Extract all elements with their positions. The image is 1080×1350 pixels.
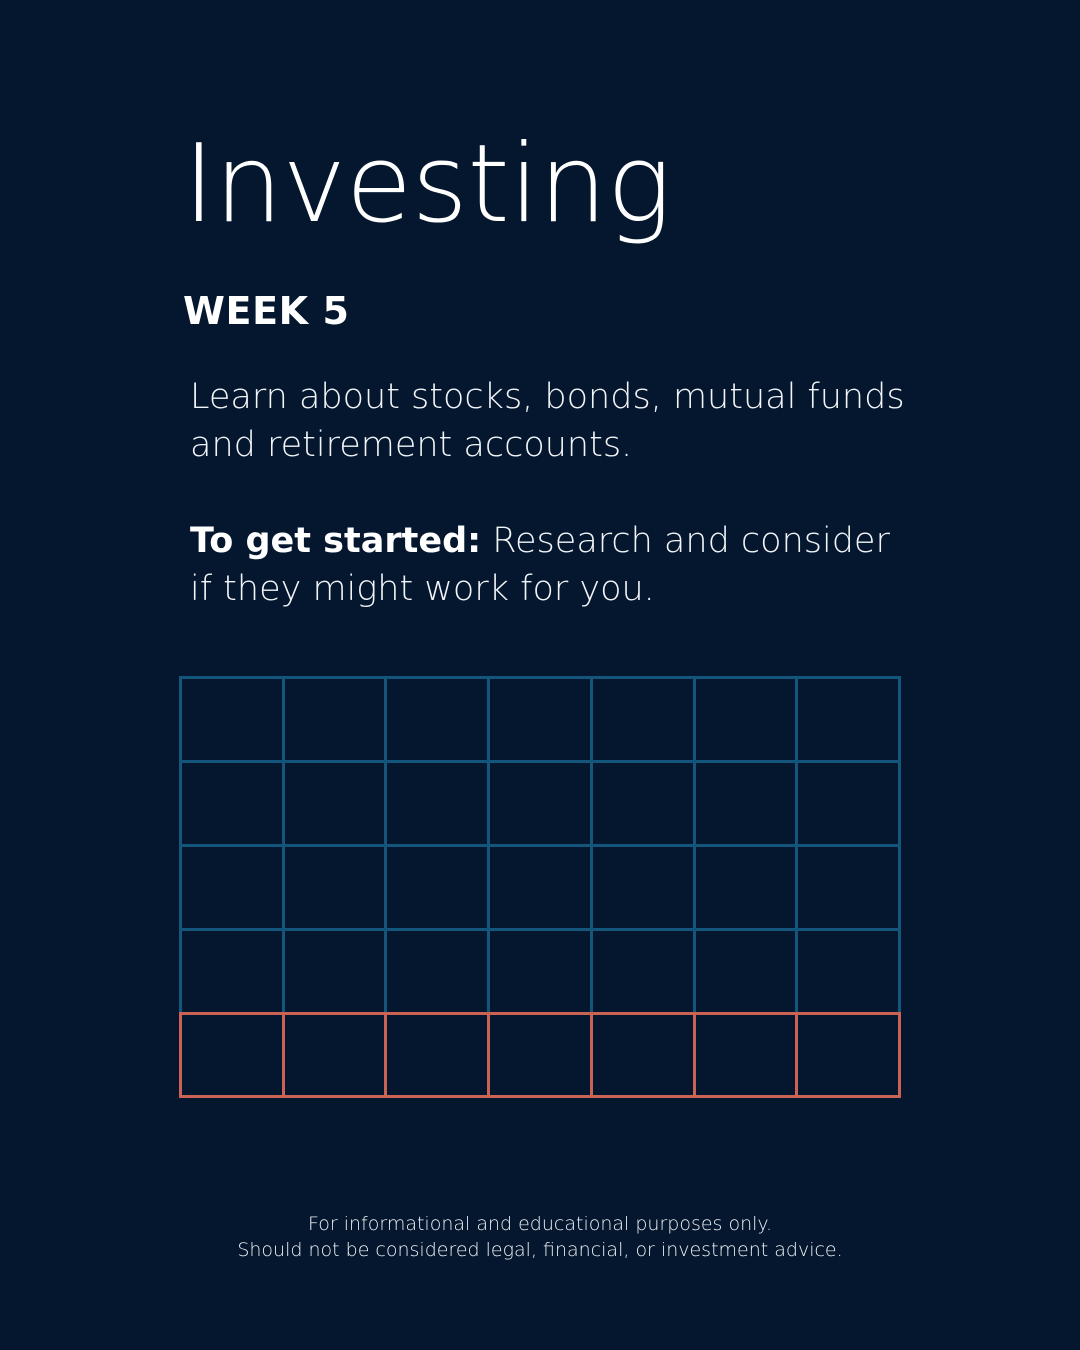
progress-grid-cell[interactable] — [282, 676, 388, 763]
progress-grid-cell[interactable] — [384, 844, 490, 931]
progress-grid-cell[interactable] — [179, 760, 285, 847]
progress-grid-cell[interactable] — [693, 844, 799, 931]
progress-grid-cell[interactable] — [590, 760, 696, 847]
body-copy: Learn about stocks, bonds, mutual funds … — [190, 373, 920, 613]
progress-grid-cell-active[interactable] — [590, 1012, 696, 1098]
progress-grid-row — [179, 844, 901, 928]
progress-grid-cell[interactable] — [693, 928, 799, 1015]
progress-grid — [179, 676, 901, 1093]
page-title: Investing — [183, 131, 671, 239]
progress-grid-cell-active[interactable] — [487, 1012, 593, 1098]
footer-disclaimer: For informational and educational purpos… — [0, 1211, 1080, 1263]
progress-grid-row — [179, 928, 901, 1012]
progress-grid-cell-active[interactable] — [282, 1012, 388, 1098]
progress-grid-cell[interactable] — [282, 928, 388, 1015]
progress-grid-cell[interactable] — [590, 928, 696, 1015]
progress-grid-cell[interactable] — [795, 844, 901, 931]
progress-grid-cell[interactable] — [179, 844, 285, 931]
progress-grid-cell[interactable] — [384, 760, 490, 847]
progress-grid-cell[interactable] — [282, 760, 388, 847]
progress-grid-cell[interactable] — [795, 760, 901, 847]
progress-grid-cell[interactable] — [487, 676, 593, 763]
body-paragraph-2: To get started: Research and consider if… — [190, 517, 920, 613]
progress-grid-cell[interactable] — [282, 844, 388, 931]
progress-grid-cell[interactable] — [795, 676, 901, 763]
progress-grid-row — [179, 676, 901, 760]
body-paragraph-1: Learn about stocks, bonds, mutual funds … — [190, 373, 920, 469]
progress-grid-cell[interactable] — [590, 844, 696, 931]
progress-grid-cell[interactable] — [384, 676, 490, 763]
progress-grid-cell[interactable] — [693, 760, 799, 847]
progress-grid-row-active — [179, 1012, 901, 1095]
progress-grid-cell[interactable] — [590, 676, 696, 763]
progress-grid-cell[interactable] — [384, 928, 490, 1015]
progress-grid-cell-active[interactable] — [693, 1012, 799, 1098]
progress-grid-cell[interactable] — [179, 928, 285, 1015]
progress-grid-cell-active[interactable] — [179, 1012, 285, 1098]
progress-grid-cell[interactable] — [487, 844, 593, 931]
progress-grid-cell[interactable] — [487, 928, 593, 1015]
progress-grid-cell[interactable] — [693, 676, 799, 763]
slide-root: Investing WEEK 5 Learn about stocks, bon… — [0, 0, 1080, 1350]
progress-grid-row — [179, 760, 901, 844]
progress-grid-cell-active[interactable] — [384, 1012, 490, 1098]
progress-grid-cell-active[interactable] — [795, 1012, 901, 1098]
footer-line-2: Should not be considered legal, financia… — [0, 1237, 1080, 1263]
progress-grid-cell[interactable] — [487, 760, 593, 847]
body-paragraph-2-lead: To get started: — [190, 521, 481, 561]
week-label: WEEK 5 — [183, 292, 350, 330]
progress-grid-cell[interactable] — [179, 676, 285, 763]
progress-grid-cell[interactable] — [795, 928, 901, 1015]
footer-line-1: For informational and educational purpos… — [0, 1211, 1080, 1237]
